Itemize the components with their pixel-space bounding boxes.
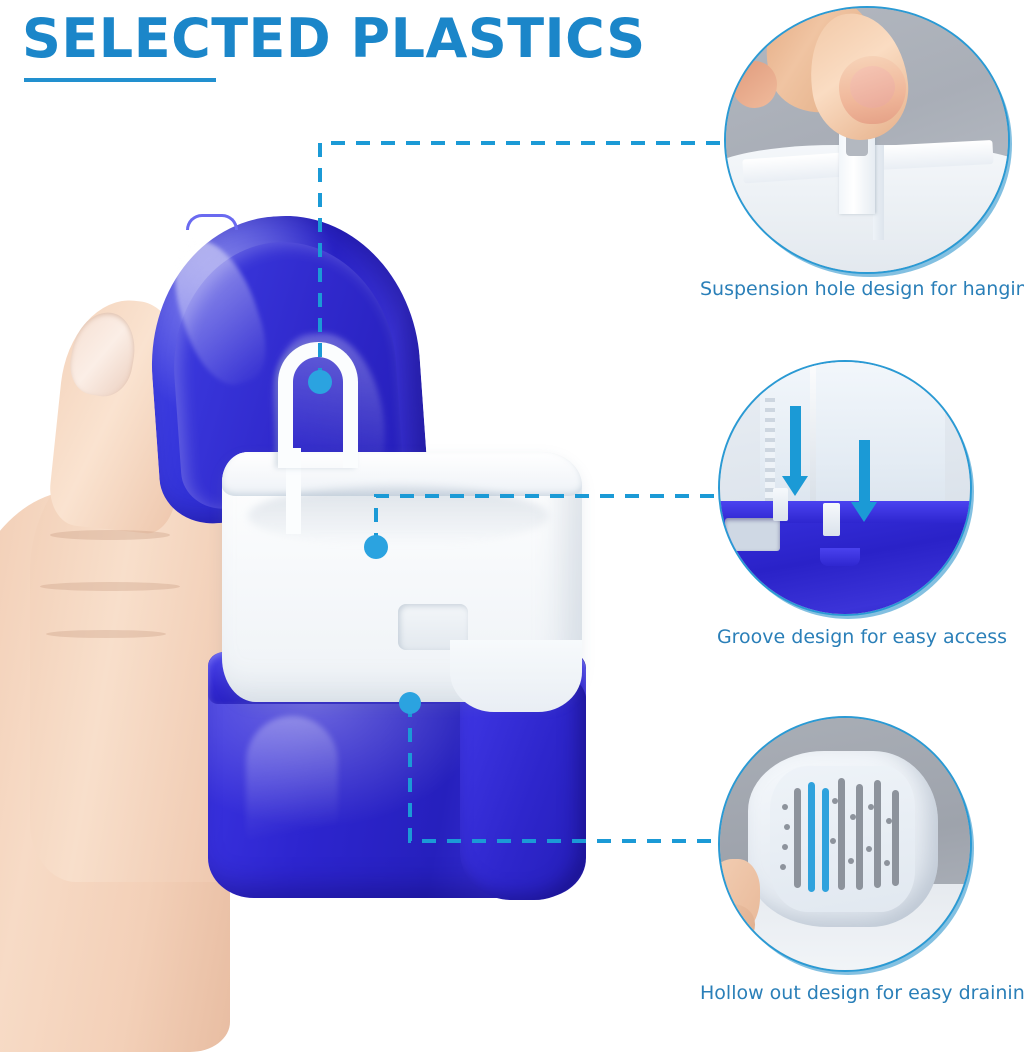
drain-hole (830, 838, 836, 844)
drain-hole (886, 818, 892, 824)
drain-slot (794, 788, 801, 888)
base-notch (820, 548, 860, 566)
connector-line-1 (320, 143, 740, 382)
callout-photo-hollow-out (718, 716, 972, 972)
drain-slot (838, 778, 845, 890)
base-slot (725, 518, 780, 551)
drain-slot (856, 784, 863, 890)
drain-hole (782, 844, 788, 850)
callout-photo-suspension-hole (724, 6, 1010, 274)
drain-slot-accent (822, 788, 829, 892)
drain-hole (848, 858, 854, 864)
callout-suspension-hole: Suspension hole design for hanging (700, 0, 1024, 310)
drain-hole (866, 846, 872, 852)
drain-slot (874, 780, 881, 888)
drain-hole (784, 824, 790, 830)
drain-hole (868, 804, 874, 810)
connector-line-2 (376, 496, 745, 547)
drain-hole (832, 798, 838, 804)
callout-caption-hollow-out: Hollow out design for easy draining (700, 982, 1024, 1004)
callout-marker-dot-2 (364, 535, 388, 559)
drain-slot-accent (808, 782, 815, 892)
callout-caption-groove: Groove design for easy access (700, 626, 1024, 648)
callout-caption-suspension-hole: Suspension hole design for hanging (700, 278, 1024, 300)
drain-slot (892, 790, 899, 886)
drain-hole (850, 814, 856, 820)
callout-marker-dot-1 (308, 370, 332, 394)
drain-hole (884, 860, 890, 866)
drain-hole (780, 864, 786, 870)
groove-clip-right (823, 503, 841, 536)
down-arrow-icon (851, 440, 877, 522)
down-arrow-icon (782, 406, 808, 496)
callout-marker-dot-3 (399, 692, 421, 714)
drain-hole (782, 804, 788, 810)
callout-groove: Groove design for easy access (700, 356, 1024, 666)
finger-knuckle (732, 61, 777, 109)
callout-photo-groove (718, 360, 972, 616)
callout-hollow-out: Hollow out design for easy draining (700, 712, 1024, 1032)
